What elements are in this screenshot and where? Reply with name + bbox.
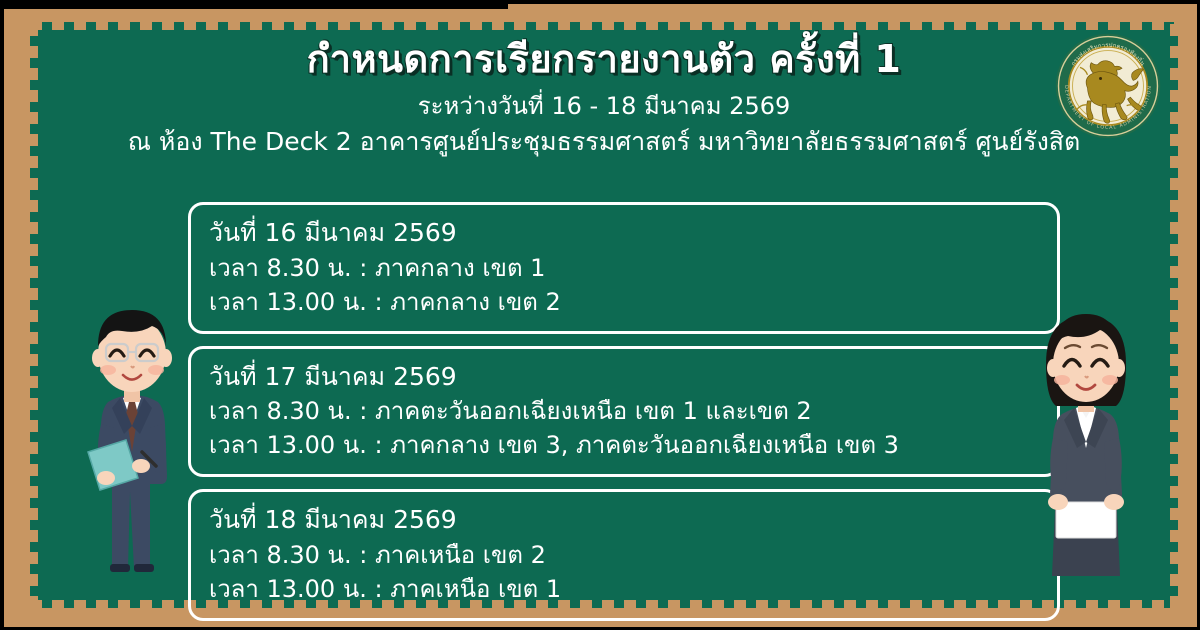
schedule-box-day3: วันที่ 18 มีนาคม 2569 เวลา 8.30 น. : ภาค…: [188, 489, 1060, 621]
schedule-session-morning: เวลา 8.30 น. : ภาคเหนือ เขต 2: [209, 538, 1043, 572]
schedule-session-afternoon: เวลา 13.00 น. : ภาคกลาง เขต 3, ภาคตะวันอ…: [209, 428, 1043, 462]
left-black-edge: [0, 0, 4, 630]
schedule-session-morning: เวลา 8.30 น. : ภาคตะวันออกเฉียงเหนือ เขต…: [209, 394, 1043, 428]
man-with-clipboard-illustration: [68, 282, 196, 582]
schedule-date: วันที่ 18 มีนาคม 2569: [209, 502, 1043, 538]
top-black-band-left: [0, 0, 508, 9]
schedule-list: วันที่ 16 มีนาคม 2569 เวลา 8.30 น. : ภาค…: [188, 202, 1060, 621]
schedule-session-afternoon: เวลา 13.00 น. : ภาคเหนือ เขต 1: [209, 572, 1043, 606]
poster-header: กำหนดการเรียกรายงานตัว ครั้งที่ 1 ระหว่า…: [30, 22, 1178, 157]
schedule-box-day2: วันที่ 17 มีนาคม 2569 เวลา 8.30 น. : ภาค…: [188, 346, 1060, 478]
subtitle-venue: ณ ห้อง The Deck 2 อาคารศูนย์ประชุมธรรมศา…: [30, 127, 1178, 157]
schedule-session-afternoon: เวลา 13.00 น. : ภาคกลาง เขต 2: [209, 285, 1043, 319]
schedule-date: วันที่ 17 มีนาคม 2569: [209, 359, 1043, 395]
schedule-box-day1: วันที่ 16 มีนาคม 2569 เวลา 8.30 น. : ภาค…: [188, 202, 1060, 334]
page-title: กำหนดการเรียกรายงานตัว ครั้งที่ 1: [30, 36, 1178, 82]
chalkboard: กำหนดการเรียกรายงานตัว ครั้งที่ 1 ระหว่า…: [30, 22, 1178, 608]
announcement-poster: กำหนดการเรียกรายงานตัว ครั้งที่ 1 ระหว่า…: [0, 0, 1200, 630]
schedule-date: วันที่ 16 มีนาคม 2569: [209, 215, 1043, 251]
subtitle-date-range: ระหว่างวันที่ 16 - 18 มีนาคม 2569: [30, 92, 1178, 121]
dla-seal-icon: กรมส่งเสริมการปกครองท้องถิ่น DEPARTMENT …: [1052, 30, 1164, 142]
woman-with-paper-illustration: [1022, 290, 1150, 582]
top-black-band-right: [508, 0, 1200, 4]
schedule-session-morning: เวลา 8.30 น. : ภาคกลาง เขต 1: [209, 251, 1043, 285]
